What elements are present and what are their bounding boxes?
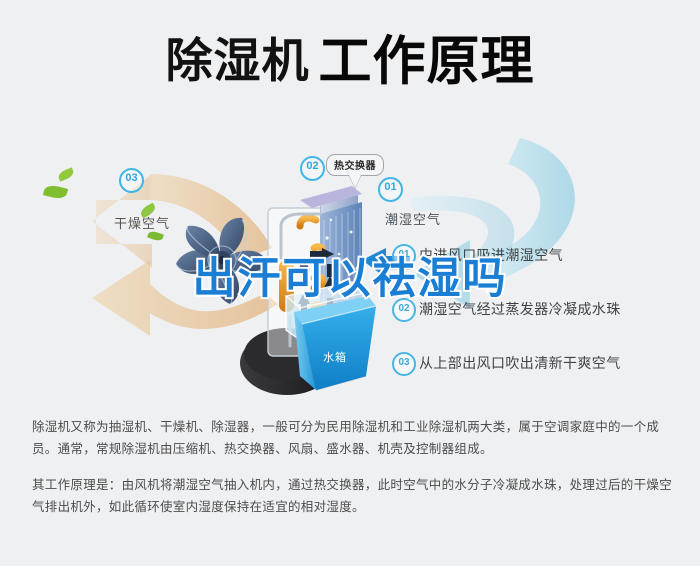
dry-air-label: 干燥空气: [114, 213, 170, 232]
infographic-page: 除湿机 工作原理: [0, 0, 700, 566]
water-tank-label: 水箱: [323, 349, 347, 365]
diagram-badge-02: 02: [300, 156, 325, 181]
heat-exchanger-callout: 热交换器: [326, 154, 384, 176]
overlay-headline: 出汗可以祛湿吗: [0, 258, 700, 301]
step-text: 从上部出风口吹出清新干爽空气: [419, 353, 621, 373]
title-part-2: 工作原理: [319, 35, 535, 88]
paragraph-1: 除湿机又称为抽湿机、干燥机、除湿器，一般可分为民用除湿机和工业除湿机两大类，属于…: [32, 416, 672, 460]
body-text: 除湿机又称为抽湿机、干燥机、除湿器，一般可分为民用除湿机和工业除湿机两大类，属于…: [32, 416, 672, 532]
title-part-1: 除湿机: [166, 38, 310, 85]
paragraph-2: 其工作原理是：由风机将潮湿空气抽入机内，通过热交换器，此时空气中的水分子冷凝成水…: [32, 474, 672, 518]
diagram-badge-01: 01: [378, 177, 403, 202]
humid-air-label: 潮湿空气: [385, 209, 441, 228]
diagram-badge-03: 03: [119, 168, 144, 193]
list-item: 03 从上部出风口吹出清新干爽空气: [392, 352, 692, 388]
page-title: 除湿机 工作原理: [0, 26, 700, 96]
step-badge: 03: [392, 352, 416, 376]
